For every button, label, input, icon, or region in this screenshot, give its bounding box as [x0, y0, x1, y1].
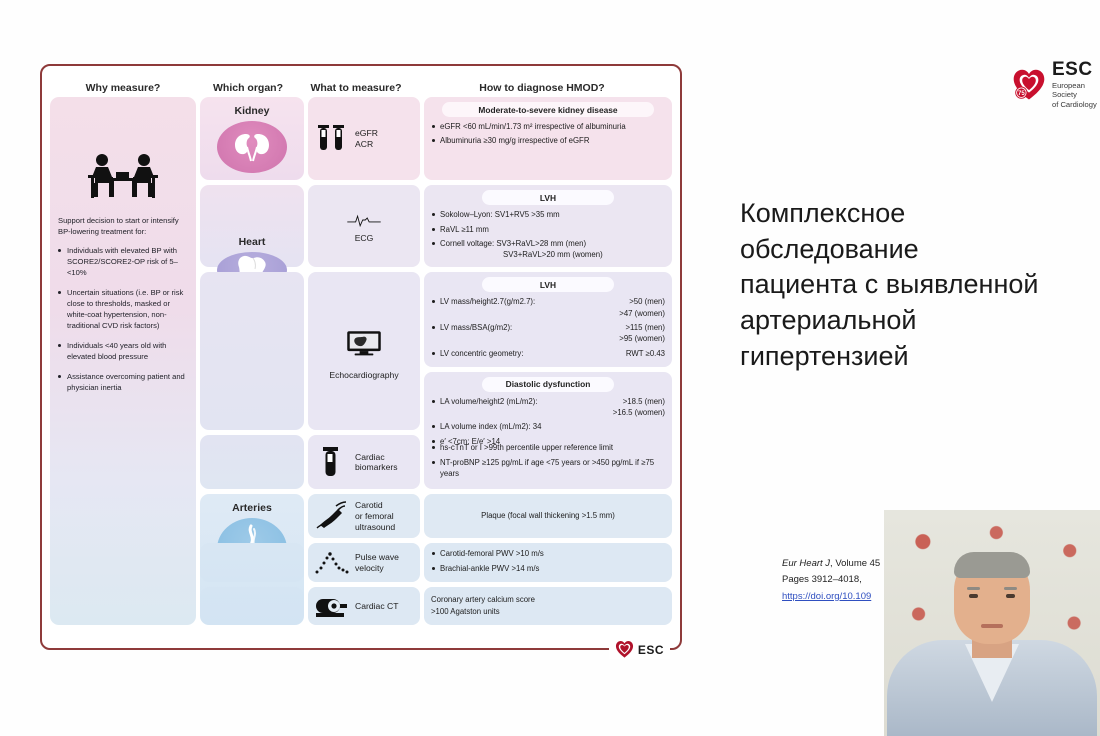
esc-acronym: ESC: [1052, 60, 1100, 79]
esc-footer-label: ESC: [638, 643, 664, 657]
criteria-value-2: >16.5 (women): [440, 407, 665, 418]
criteria-item: RaVL ≥11 mm: [431, 224, 665, 235]
why-measure-bullets: Individuals with elevated BP with SCORE2…: [58, 245, 188, 393]
why-measure-column: Support decision to start or intensify B…: [50, 97, 196, 625]
esc-brand-logo: 75 ESC European Society of Cardiology: [1012, 60, 1100, 109]
measure-echo-label: Echocardiography: [329, 370, 398, 381]
row-echocardiography: Echocardiography LVH LV mass/height2.7(g…: [200, 272, 672, 430]
criteria-value: >18.5 (men): [623, 396, 665, 407]
measure-ultrasound: Carotid or femoral ultrasound: [308, 494, 420, 538]
criteria-key: LV mass/height2.7(g/m2.7):: [440, 296, 535, 307]
criteria-key: LV concentric geometry:: [440, 348, 524, 359]
cac-line-1: Coronary artery calcium score: [431, 594, 665, 606]
measure-ultrasound-word: ultrasound: [355, 522, 395, 533]
measure-pwv-label: Pulse wave velocity: [355, 552, 399, 573]
diagnose-ecg: LVH Sokolow–Lyon: SV1+RV5 >35 mm RaVL ≥1…: [424, 185, 672, 267]
row-kidney: Kidney: [200, 97, 672, 180]
criteria-item: eGFR <60 mL/min/1.73 m² irrespective of …: [431, 121, 665, 132]
measure-ecg: ECG: [308, 185, 420, 267]
ct-scanner-icon: [313, 593, 349, 619]
pill-diastolic-dysfunction: Diastolic dysfunction: [482, 377, 614, 392]
figure-footer-logo: ESC: [609, 640, 670, 659]
echo-dd-list: LA volume/height2 (mL/m2):>18.5 (men) >1…: [431, 396, 665, 447]
organ-heart-spacer: [200, 272, 304, 430]
pulse-wave-icon: [313, 550, 349, 576]
criteria-value: >50 (men): [629, 296, 665, 307]
cac-line-2: >100 Agatston units: [431, 606, 665, 618]
measure-velocity: velocity: [355, 563, 399, 574]
blood-tubes-icon: [313, 123, 349, 155]
criteria-item: LV mass/height2.7(g/m2.7):>50 (men) >47 …: [431, 296, 665, 319]
criteria-item: Sokolow–Lyon: SV1+RV5 >35 mm: [431, 209, 665, 220]
speaker-hair: [954, 552, 1030, 578]
webcam-video-overlay[interactable]: [884, 510, 1100, 736]
diagnose-ultrasound: Plaque (focal wall thickening >1.5 mm): [424, 494, 672, 538]
why-measure-lead: Support decision to start or intensify B…: [58, 215, 188, 237]
measure-biomarkers-label: Cardiac biomarkers: [355, 452, 398, 473]
criteria-item: Cornell voltage: SV3+RaVL>28 mm (men) SV…: [431, 238, 665, 261]
speaker-eye-right: [1006, 594, 1015, 598]
anniversary-badge-text: 75: [1018, 91, 1025, 97]
pwv-criteria-list: Carotid-femoral PWV >10 m/s Brachial-ank…: [431, 548, 665, 577]
slide-title: Комплексное обследование пациента с выяв…: [740, 196, 1040, 374]
criteria-item: LV mass/BSA(g/m2):>115 (men) >95 (women): [431, 322, 665, 345]
biomarker-criteria-list: hs-cTnT or I >99th percentile upper refe…: [431, 442, 665, 482]
row-pulse-wave-velocity: Pulse wave velocity Carotid-femoral PWV …: [200, 543, 672, 582]
criteria-value-2: >47 (women): [440, 308, 665, 319]
measure-biomarkers-word: biomarkers: [355, 462, 398, 473]
criteria-value-2: >95 (women): [440, 333, 665, 344]
measure-acr: ACR: [355, 139, 378, 150]
criteria-text: Cornell voltage: SV3+RaVL>28 mm (men): [440, 239, 586, 248]
row-cardiac-biomarkers: Cardiac biomarkers hs-cTnT or I >99th pe…: [200, 435, 672, 489]
criteria-continuation: SV3+RaVL>20 mm (women): [440, 249, 665, 260]
measure-ct-label: Cardiac CT: [355, 601, 398, 612]
kidney-criteria-list: eGFR <60 mL/min/1.73 m² irrespective of …: [431, 121, 665, 147]
pill-lvh-ecg: LVH: [482, 190, 614, 205]
criteria-key: LV mass/BSA(g/m2):: [440, 322, 512, 333]
criteria-item: LV concentric geometry:RWT ≥0.43: [431, 348, 665, 359]
hmod-figure: Why measure? Which organ? What to measur…: [40, 64, 682, 650]
citation-journal: Eur Heart J: [782, 558, 830, 569]
row-ecg: Heart: [200, 185, 672, 267]
organ-heart-label: Heart: [239, 236, 266, 248]
blood-tube-icon: [313, 445, 349, 479]
measure-pwv: Pulse wave velocity: [308, 543, 420, 582]
consultation-icon: [58, 145, 188, 207]
organ-kidney-label: Kidney: [234, 105, 269, 117]
measure-ultrasound-label: Carotid or femoral ultrasound: [355, 500, 395, 532]
measure-or-femoral: or femoral: [355, 511, 395, 522]
echocardiography-monitor-icon: [346, 322, 382, 364]
criteria-key: LA volume/height2 (mL/m2):: [440, 396, 538, 407]
esc-heart-icon: 75: [1012, 68, 1046, 102]
pill-lvh-echo: LVH: [482, 277, 614, 292]
speaker-eye-left: [969, 594, 978, 598]
pill-kidney-disease: Moderate-to-severe kidney disease: [442, 102, 654, 117]
speaker-brow-left: [967, 587, 980, 590]
diagnose-pwv: Carotid-femoral PWV >10 m/s Brachial-ank…: [424, 543, 672, 582]
measure-carotid: Carotid: [355, 500, 395, 511]
ecg-criteria-list: Sokolow–Lyon: SV1+RV5 >35 mm RaVL ≥11 mm…: [431, 209, 665, 260]
row-ultrasound: Arteries: [200, 494, 672, 538]
esc-subtitle-line2: of Cardiology: [1052, 100, 1100, 109]
header-which-organ: Which organ?: [196, 82, 300, 94]
citation-volume: , Volume 45: [830, 558, 880, 569]
criteria-item: Brachial-ankle PWV >14 m/s: [431, 563, 665, 574]
organ-heart-spacer-2: [200, 435, 304, 489]
speaker-mouth: [981, 624, 1003, 628]
echo-lvh-list: LV mass/height2.7(g/m2.7):>50 (men) >47 …: [431, 296, 665, 358]
ultrasound-probe-icon: [313, 501, 349, 531]
why-bullet: Uncertain situations (i.e. BP or risk cl…: [58, 287, 188, 331]
criteria-item: Carotid-femoral PWV >10 m/s: [431, 548, 665, 559]
webcam-speaker: [884, 586, 1100, 736]
measure-ecg-label: ECG: [355, 233, 374, 244]
diagnose-cardiac-ct: Coronary artery calcium score >100 Agats…: [424, 587, 672, 625]
figure-column-headers: Why measure? Which organ? What to measur…: [50, 72, 672, 94]
criteria-item: hs-cTnT or I >99th percentile upper refe…: [431, 442, 665, 453]
header-how-to-diagnose: How to diagnose HMOD?: [412, 82, 672, 94]
diagnose-kidney: Moderate-to-severe kidney disease eGFR <…: [424, 97, 672, 180]
why-bullet: Individuals with elevated BP with SCORE2…: [58, 245, 188, 278]
measure-cardiac-ct: Cardiac CT: [308, 587, 420, 625]
esc-footer-heart-icon: [615, 640, 634, 659]
esc-wordmark: ESC European Society of Cardiology: [1052, 60, 1100, 109]
measure-kidney: eGFR ACR: [308, 97, 420, 180]
esc-subtitle-line1: European Society: [1052, 81, 1100, 100]
plaque-criteria: Plaque (focal wall thickening >1.5 mm): [481, 510, 615, 522]
measure-pulse-wave: Pulse wave: [355, 552, 399, 563]
why-bullet: Assistance overcoming patient and physic…: [58, 371, 188, 393]
ecg-icon: [346, 209, 382, 231]
organ-arteries-spacer: [200, 543, 304, 582]
measure-cardiac: Cardiac: [355, 452, 398, 463]
organ-heart: Heart: [200, 185, 304, 267]
criteria-item: NT-proBNP ≥125 pg/mL if age <75 years or…: [431, 457, 665, 480]
slide: 75 ESC European Society of Cardiology Wh…: [0, 0, 1100, 736]
diagnose-echo-lvh: LVH LV mass/height2.7(g/m2.7):>50 (men) …: [424, 272, 672, 366]
why-bullet: Individuals <40 years old with elevated …: [58, 340, 188, 362]
criteria-item: Albuminuria ≥30 mg/g irrespective of eGF…: [431, 135, 665, 146]
speaker-brow-right: [1004, 587, 1017, 590]
organ-kidney: Kidney: [200, 97, 304, 180]
criteria-item: LA volume index (mL/m2): 34: [431, 421, 665, 432]
header-what-to-measure: What to measure?: [300, 82, 412, 94]
criteria-value: RWT ≥0.43: [626, 348, 665, 359]
measure-kidney-label: eGFR ACR: [355, 128, 378, 149]
criteria-value: >115 (men): [625, 322, 665, 333]
organ-arteries-spacer-2: [200, 587, 304, 625]
speaker-head: [954, 552, 1030, 644]
criteria-item: LA volume/height2 (mL/m2):>18.5 (men) >1…: [431, 396, 665, 419]
measure-echo: Echocardiography: [308, 272, 420, 430]
measure-egfr: eGFR: [355, 128, 378, 139]
kidney-icon: [217, 121, 287, 173]
organ-arteries-label: Arteries: [232, 502, 272, 514]
measure-biomarkers: Cardiac biomarkers: [308, 435, 420, 489]
row-cardiac-ct: Cardiac CT Coronary artery calcium score…: [200, 587, 672, 625]
diagnose-biomarkers: hs-cTnT or I >99th percentile upper refe…: [424, 435, 672, 489]
header-why-measure: Why measure?: [50, 82, 196, 94]
